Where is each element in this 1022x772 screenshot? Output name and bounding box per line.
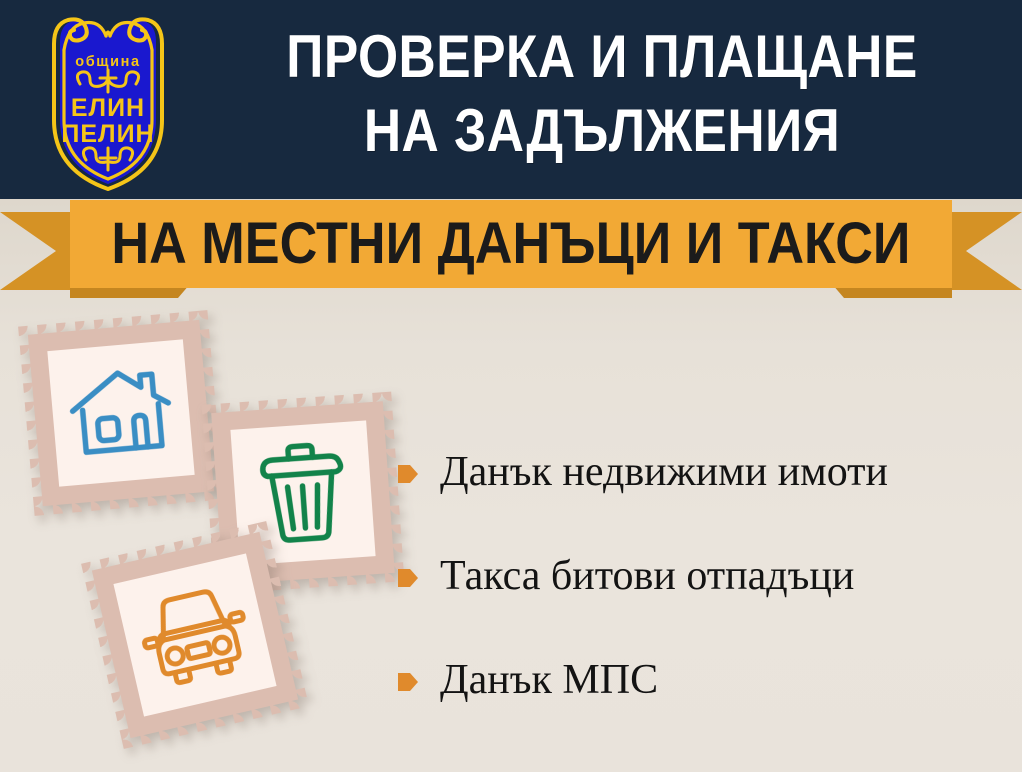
subtitle-ribbon: НА МЕСТНИ ДАНЪЦИ И ТАКСИ <box>0 196 1022 296</box>
poster-title: ПРОВЕРКА И ПЛАЩАНЕ НА ЗАДЪЛЖЕНИЯ <box>196 20 1008 168</box>
stamp-paper <box>47 339 194 486</box>
house-icon <box>63 360 179 465</box>
bullet-arrow-icon <box>398 567 418 589</box>
crest-text-obshtina: община <box>75 54 140 70</box>
list-item-label: Такса битови отпадъци <box>440 553 854 599</box>
list-item[interactable]: Данък МПС <box>398 628 1008 732</box>
list-item-label: Данък недвижими имоти <box>440 449 888 495</box>
municipality-crest-logo: община ЕЛИН ПЕЛИН <box>28 8 188 191</box>
crest-text-pelin: ПЕЛИН <box>61 120 154 148</box>
tax-types-list: Данък недвижими имоти Такса битови отпад… <box>398 420 1008 732</box>
bullet-arrow-icon <box>398 463 418 485</box>
poster-root: община ЕЛИН ПЕЛИН <box>0 0 1022 772</box>
bullet-arrow-icon <box>398 671 418 693</box>
ribbon-label: НА МЕСТНИ ДАНЪЦИ И ТАКСИ <box>111 215 910 273</box>
crest-text-elin: ЕЛИН <box>71 94 145 122</box>
stamp-house <box>18 310 224 516</box>
list-item-label: Данък МПС <box>440 657 658 703</box>
title-line-1: ПРОВЕРКА И ПЛАЩАНЕ <box>253 20 951 94</box>
list-item[interactable]: Такса битови отпадъци <box>398 524 1008 628</box>
header-bar: община ЕЛИН ПЕЛИН <box>0 0 1022 199</box>
ribbon-face: НА МЕСТНИ ДАНЪЦИ И ТАКСИ <box>70 200 952 288</box>
list-item[interactable]: Данък недвижими имоти <box>398 420 1008 524</box>
car-icon <box>131 578 259 692</box>
title-line-2: НА ЗАДЪЛЖЕНИЯ <box>253 94 951 168</box>
